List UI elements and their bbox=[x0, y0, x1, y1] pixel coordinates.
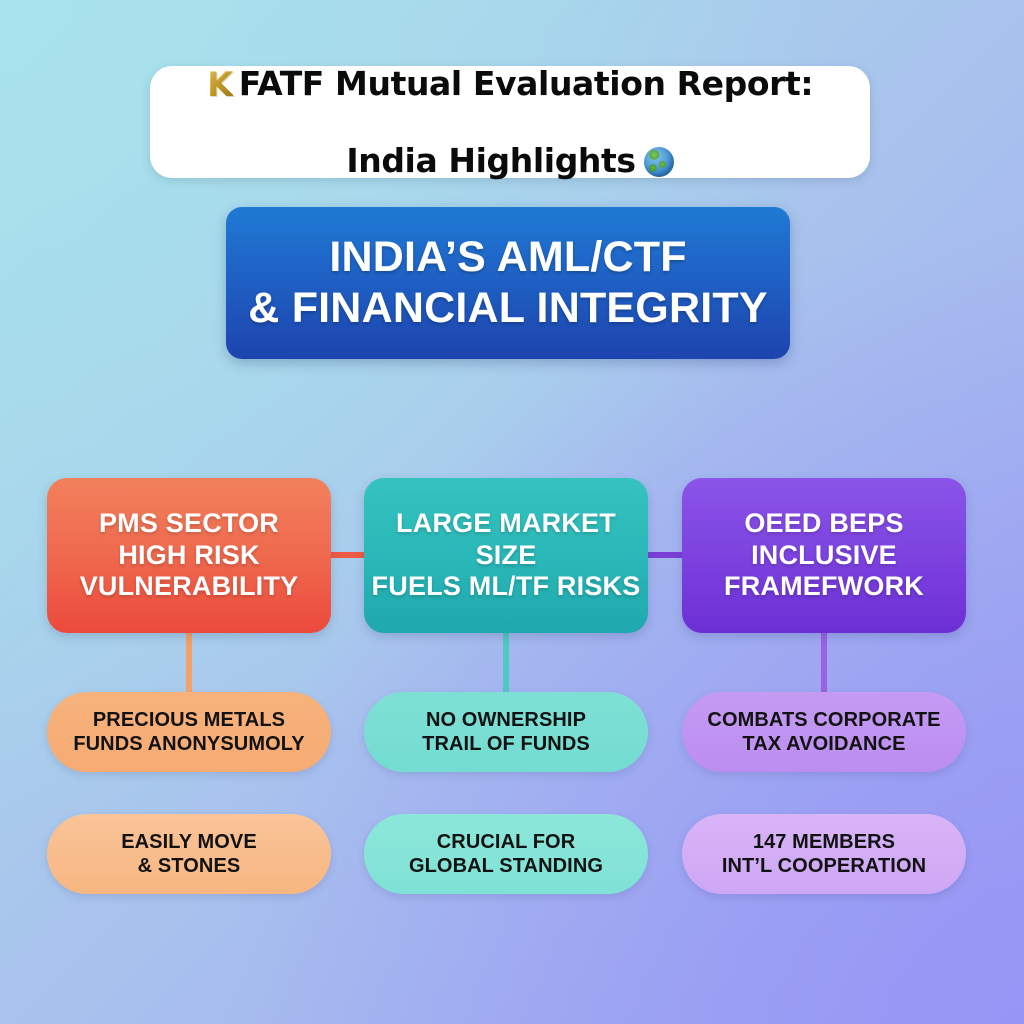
title-card: KFATF Mutual Evaluation Report: India Hi… bbox=[150, 66, 870, 178]
banner-heading: INDIA’S AML/CTF & FINANCIAL INTEGRITY bbox=[248, 232, 767, 333]
detail-pill-147-members[interactable]: 147 MEMBERS INT’L COOPERATION bbox=[682, 814, 966, 894]
detail-pill-label: PRECIOUS METALS FUNDS ANONYSUMOLY bbox=[73, 708, 304, 757]
card-3-line-3: FRAMEFWORK bbox=[724, 571, 924, 603]
pill-b3-line-2: TAX AVOIDANCE bbox=[707, 732, 940, 756]
title-line-2: India Highlights bbox=[207, 142, 813, 180]
card-3-line-1: OEED BEPS bbox=[724, 508, 924, 540]
pill-b2-line-1: NO OWNERSHIP bbox=[422, 708, 590, 732]
banner-line-2: & FINANCIAL INTEGRITY bbox=[248, 283, 767, 334]
title-text-line-2: India Highlights bbox=[346, 141, 635, 180]
detail-pill-no-ownership-trail[interactable]: NO OWNERSHIP TRAIL OF FUNDS bbox=[364, 692, 648, 772]
pill-b3-line-1: COMBATS CORPORATE bbox=[707, 708, 940, 732]
title-line-1: KFATF Mutual Evaluation Report: bbox=[207, 65, 813, 104]
pill-c1-line-1: EASILY MOVE bbox=[121, 830, 257, 854]
card-2-line-2: SIZE bbox=[372, 540, 641, 572]
pill-c2-line-1: CRUCIAL FOR bbox=[409, 830, 603, 854]
detail-pill-label: NO OWNERSHIP TRAIL OF FUNDS bbox=[422, 708, 590, 757]
pill-c1-line-2: & STONES bbox=[121, 854, 257, 878]
detail-pill-label: COMBATS CORPORATE TAX AVOIDANCE bbox=[707, 708, 940, 757]
risk-card-pms-sector[interactable]: PMS SECTOR HIGH RISK VULNERABILITY bbox=[47, 478, 331, 633]
pill-c3-line-1: 147 MEMBERS bbox=[722, 830, 926, 854]
page-title: KFATF Mutual Evaluation Report: India Hi… bbox=[207, 27, 813, 218]
pill-c2-line-2: GLOBAL STANDING bbox=[409, 854, 603, 878]
pill-c3-line-2: INT’L COOPERATION bbox=[722, 854, 926, 878]
card-2-line-1: LARGE MARKET bbox=[372, 508, 641, 540]
gold-k-logo-icon: K bbox=[207, 66, 233, 105]
risk-card-label: OEED BEPS INCLUSIVE FRAMEFWORK bbox=[724, 508, 924, 604]
card-1-line-2: HIGH RISK bbox=[80, 540, 299, 572]
card-1-line-3: VULNERABILITY bbox=[80, 571, 299, 603]
detail-pill-easily-move[interactable]: EASILY MOVE & STONES bbox=[47, 814, 331, 894]
card-3-line-2: INCLUSIVE bbox=[724, 540, 924, 572]
globe-earth-icon bbox=[644, 147, 674, 177]
detail-pill-label: 147 MEMBERS INT’L COOPERATION bbox=[722, 830, 926, 879]
pill-b1-line-1: PRECIOUS METALS bbox=[73, 708, 304, 732]
main-banner: INDIA’S AML/CTF & FINANCIAL INTEGRITY bbox=[226, 207, 790, 359]
card-1-line-1: PMS SECTOR bbox=[80, 508, 299, 540]
infographic-canvas: KFATF Mutual Evaluation Report: India Hi… bbox=[0, 0, 1024, 1024]
pill-b2-line-2: TRAIL OF FUNDS bbox=[422, 732, 590, 756]
pill-b1-line-2: FUNDS ANONYSUMOLY bbox=[73, 732, 304, 756]
card-2-line-3: FUELS ML/TF RISKS bbox=[372, 571, 641, 603]
detail-pill-combats-tax-avoidance[interactable]: COMBATS CORPORATE TAX AVOIDANCE bbox=[682, 692, 966, 772]
risk-card-oecd-beps[interactable]: OEED BEPS INCLUSIVE FRAMEFWORK bbox=[682, 478, 966, 633]
detail-pill-precious-metals[interactable]: PRECIOUS METALS FUNDS ANONYSUMOLY bbox=[47, 692, 331, 772]
risk-card-large-market-size[interactable]: LARGE MARKET SIZE FUELS ML/TF RISKS bbox=[364, 478, 648, 633]
banner-line-1: INDIA’S AML/CTF bbox=[248, 232, 767, 283]
title-text-line-1: FATF Mutual Evaluation Report: bbox=[239, 64, 813, 103]
risk-card-label: LARGE MARKET SIZE FUELS ML/TF RISKS bbox=[372, 508, 641, 604]
detail-pill-crucial-global-standing[interactable]: CRUCIAL FOR GLOBAL STANDING bbox=[364, 814, 648, 894]
risk-card-label: PMS SECTOR HIGH RISK VULNERABILITY bbox=[80, 508, 299, 604]
detail-pill-label: EASILY MOVE & STONES bbox=[121, 830, 257, 879]
detail-pill-label: CRUCIAL FOR GLOBAL STANDING bbox=[409, 830, 603, 879]
